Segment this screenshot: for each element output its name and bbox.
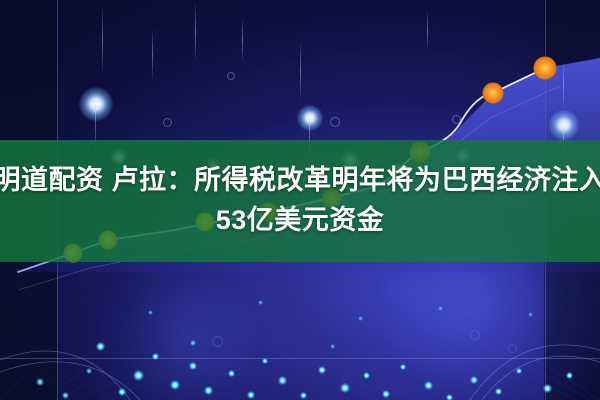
cyan-particle	[189, 362, 197, 370]
cyan-particle	[470, 376, 478, 384]
cyan-particle	[118, 388, 126, 396]
cyan-particle	[566, 372, 573, 379]
cyan-particle	[446, 394, 453, 400]
cyan-particle	[86, 368, 92, 374]
cyan-particle	[300, 392, 307, 399]
light-streak	[563, 60, 564, 110]
cyan-particle	[36, 378, 44, 386]
cyan-particle	[228, 370, 235, 377]
cyan-particle	[262, 358, 268, 364]
headline-line-2: 53亿美元资金	[216, 203, 385, 239]
ring-particle	[227, 72, 235, 80]
cyan-particle	[424, 381, 433, 390]
cyan-particle	[148, 310, 153, 315]
ring-particle	[508, 344, 517, 353]
news-banner: 明道配资 卢拉：所得税改革明年将为巴西经济注入 53亿美元资金	[0, 0, 600, 400]
cyan-particle	[363, 372, 370, 379]
cyan-particle	[258, 300, 263, 305]
star-glow	[297, 105, 323, 131]
cyan-particle	[528, 312, 533, 317]
cyan-particle	[495, 388, 502, 395]
cyan-particle	[516, 368, 522, 374]
ring-particle	[330, 117, 340, 127]
star-glow	[79, 87, 113, 121]
light-streak	[102, 4, 103, 76]
cyan-particle	[247, 391, 255, 399]
cyan-particle	[170, 380, 180, 390]
cyan-particle	[400, 364, 406, 370]
cyan-particle	[382, 390, 390, 398]
cyan-particle	[96, 342, 105, 351]
ring-particle	[470, 330, 480, 340]
light-streak	[152, 28, 153, 80]
cyan-particle	[318, 366, 326, 374]
ring-particle	[452, 115, 461, 124]
cyan-particle	[543, 384, 552, 393]
light-streak	[242, 18, 243, 62]
light-streak	[195, 0, 196, 64]
headline-line-1: 明道配资 卢拉：所得税改革明年将为巴西经济注入	[0, 163, 600, 199]
ring-particle	[163, 118, 172, 127]
chart-marker	[483, 83, 503, 103]
light-streak	[427, 10, 428, 50]
cyan-particle	[133, 370, 144, 381]
light-streak	[300, 40, 301, 102]
star-glow	[549, 110, 579, 140]
cyan-particle	[330, 344, 335, 349]
cyan-particle	[62, 392, 69, 399]
ring-particle	[212, 336, 223, 347]
cyan-particle	[340, 383, 350, 393]
cyan-particle	[278, 376, 287, 385]
chart-marker	[534, 57, 556, 79]
cyan-particle	[204, 386, 213, 395]
cyan-particle	[438, 306, 443, 311]
cyan-particle	[152, 353, 159, 360]
headline: 明道配资 卢拉：所得税改革明年将为巴西经济注入 53亿美元资金	[0, 140, 600, 262]
cyan-particle	[358, 316, 363, 321]
cyan-particle	[190, 340, 196, 346]
